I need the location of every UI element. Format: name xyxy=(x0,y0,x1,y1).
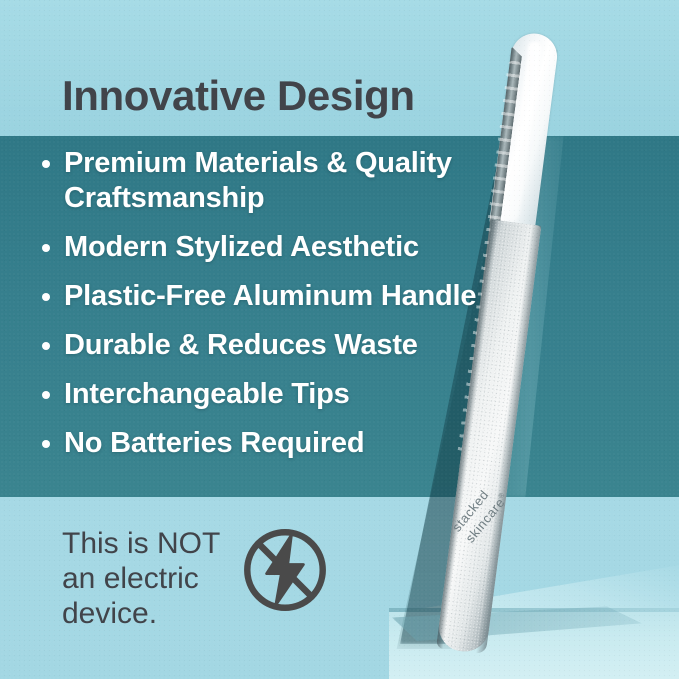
note-line-3: device. xyxy=(62,596,220,631)
list-item: Durable & Reduces Waste xyxy=(36,328,536,363)
feature-list: Premium Materials & Quality Craftsmanshi… xyxy=(36,146,536,475)
list-item: Interchangeable Tips xyxy=(36,377,536,412)
page-title: Innovative Design xyxy=(62,72,415,120)
list-item: No Batteries Required xyxy=(36,426,536,461)
not-electric-note: This is NOT an electric device. xyxy=(62,526,220,631)
product-infographic: stacked skincare® Innovative Design Prem… xyxy=(0,0,679,679)
list-item: Modern Stylized Aesthetic xyxy=(36,230,536,265)
list-item: Premium Materials & Quality Craftsmanshi… xyxy=(36,146,536,216)
no-electricity-icon xyxy=(239,524,331,616)
list-item: Plastic-Free Aluminum Handle xyxy=(36,279,536,314)
note-line-1: This is NOT xyxy=(62,526,220,561)
note-line-2: an electric xyxy=(62,561,220,596)
